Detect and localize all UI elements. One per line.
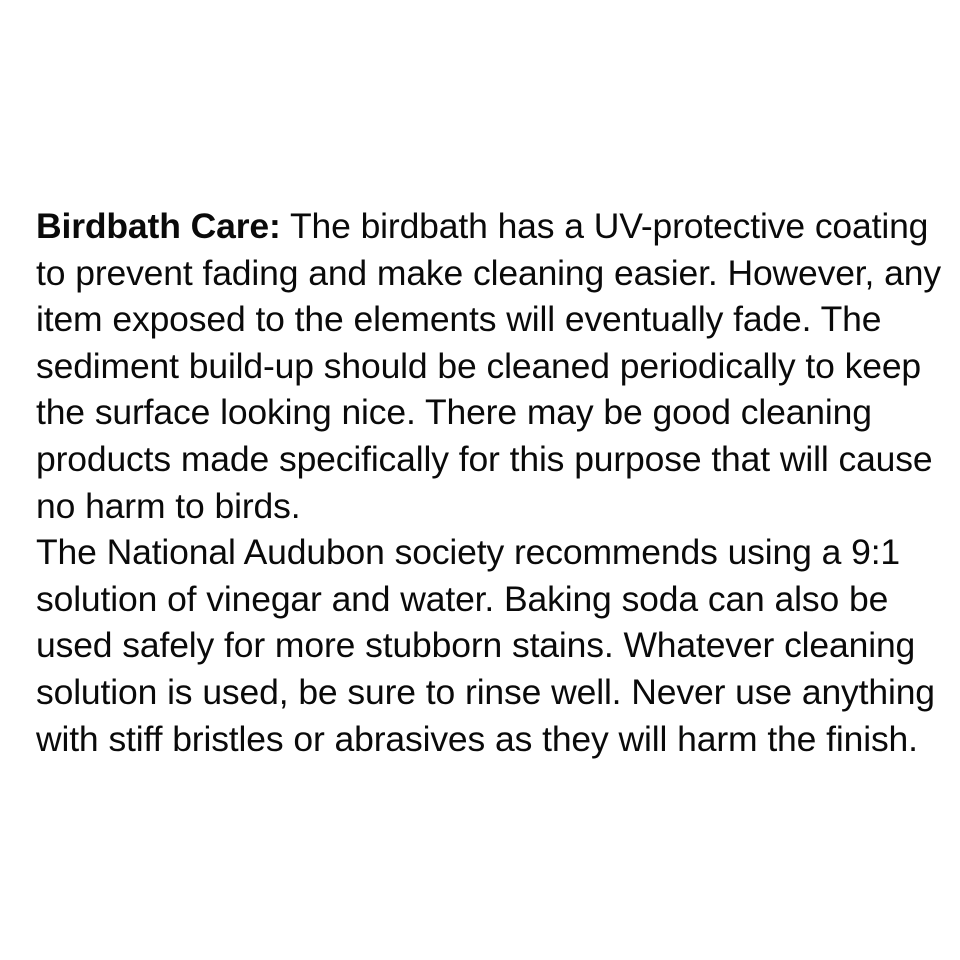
- care-paragraph-2-body: The National Audubon society recommends …: [36, 532, 935, 758]
- birdbath-care-text-block: Birdbath Care: The birdbath has a UV-pro…: [36, 203, 942, 762]
- care-paragraph-2: The National Audubon society recommends …: [36, 529, 942, 762]
- care-paragraph-1-body: The birdbath has a UV-protective coating…: [36, 206, 941, 526]
- care-instructions-page: Birdbath Care: The birdbath has a UV-pro…: [0, 0, 960, 960]
- birdbath-care-label: Birdbath Care:: [36, 206, 281, 246]
- care-paragraph-1: Birdbath Care: The birdbath has a UV-pro…: [36, 203, 942, 529]
